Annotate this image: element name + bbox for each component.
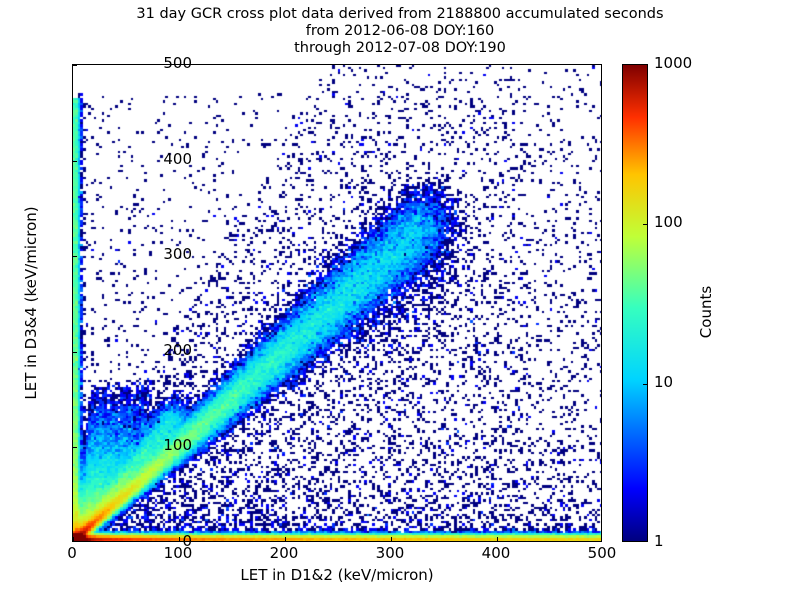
colorbar[interactable] <box>622 64 648 542</box>
x-tick-label: 0 <box>37 546 107 561</box>
x-tick-mark <box>497 541 498 542</box>
colorbar-tick-mark <box>643 224 647 225</box>
colorbar-tick-mark <box>643 384 647 385</box>
x-tick-mark <box>497 537 498 541</box>
x-tick-mark <box>285 537 286 541</box>
title-line-1: 31 day GCR cross plot data derived from … <box>0 6 800 23</box>
y-axis-title: LET in D3&4 (keV/micron) <box>22 133 40 473</box>
y-tick-mark <box>73 352 77 353</box>
title-line-2: from 2012-06-08 DOY:160 <box>0 23 800 40</box>
scatter-density-plot <box>73 65 602 542</box>
colorbar-tick-mark <box>647 224 648 225</box>
x-tick-mark <box>73 537 74 541</box>
x-tick-mark <box>391 541 392 542</box>
y-tick-label: 200 <box>132 343 192 358</box>
x-tick-label: 300 <box>355 546 425 561</box>
y-tick-mark <box>73 256 77 257</box>
colorbar-tick-label: 100 <box>654 215 683 230</box>
y-tick-label: 500 <box>132 56 192 71</box>
x-tick-mark <box>391 537 392 541</box>
y-tick-mark <box>73 65 77 66</box>
chart-title: 31 day GCR cross plot data derived from … <box>0 6 800 57</box>
x-tick-label: 500 <box>567 546 637 561</box>
y-tick-mark <box>73 447 77 448</box>
y-tick-mark <box>73 161 77 162</box>
x-tick-mark <box>73 541 74 542</box>
colorbar-title: Counts <box>697 252 715 372</box>
x-tick-label: 100 <box>143 546 213 561</box>
y-tick-label: 100 <box>132 438 192 453</box>
colorbar-tick-label: 1 <box>654 534 664 549</box>
y-tick-label: 300 <box>132 247 192 262</box>
x-tick-label: 200 <box>249 546 319 561</box>
colorbar-tick-mark <box>647 384 648 385</box>
x-tick-mark <box>285 541 286 542</box>
colorbar-gradient <box>623 65 647 541</box>
y-tick-label: 400 <box>132 152 192 167</box>
colorbar-tick-label: 10 <box>654 375 673 390</box>
x-tick-label: 400 <box>461 546 531 561</box>
colorbar-tick-label: 1000 <box>654 56 692 71</box>
figure-canvas: 31 day GCR cross plot data derived from … <box>0 0 800 600</box>
plot-area[interactable] <box>72 64 602 542</box>
x-axis-title: LET in D1&2 (keV/micron) <box>72 566 602 584</box>
